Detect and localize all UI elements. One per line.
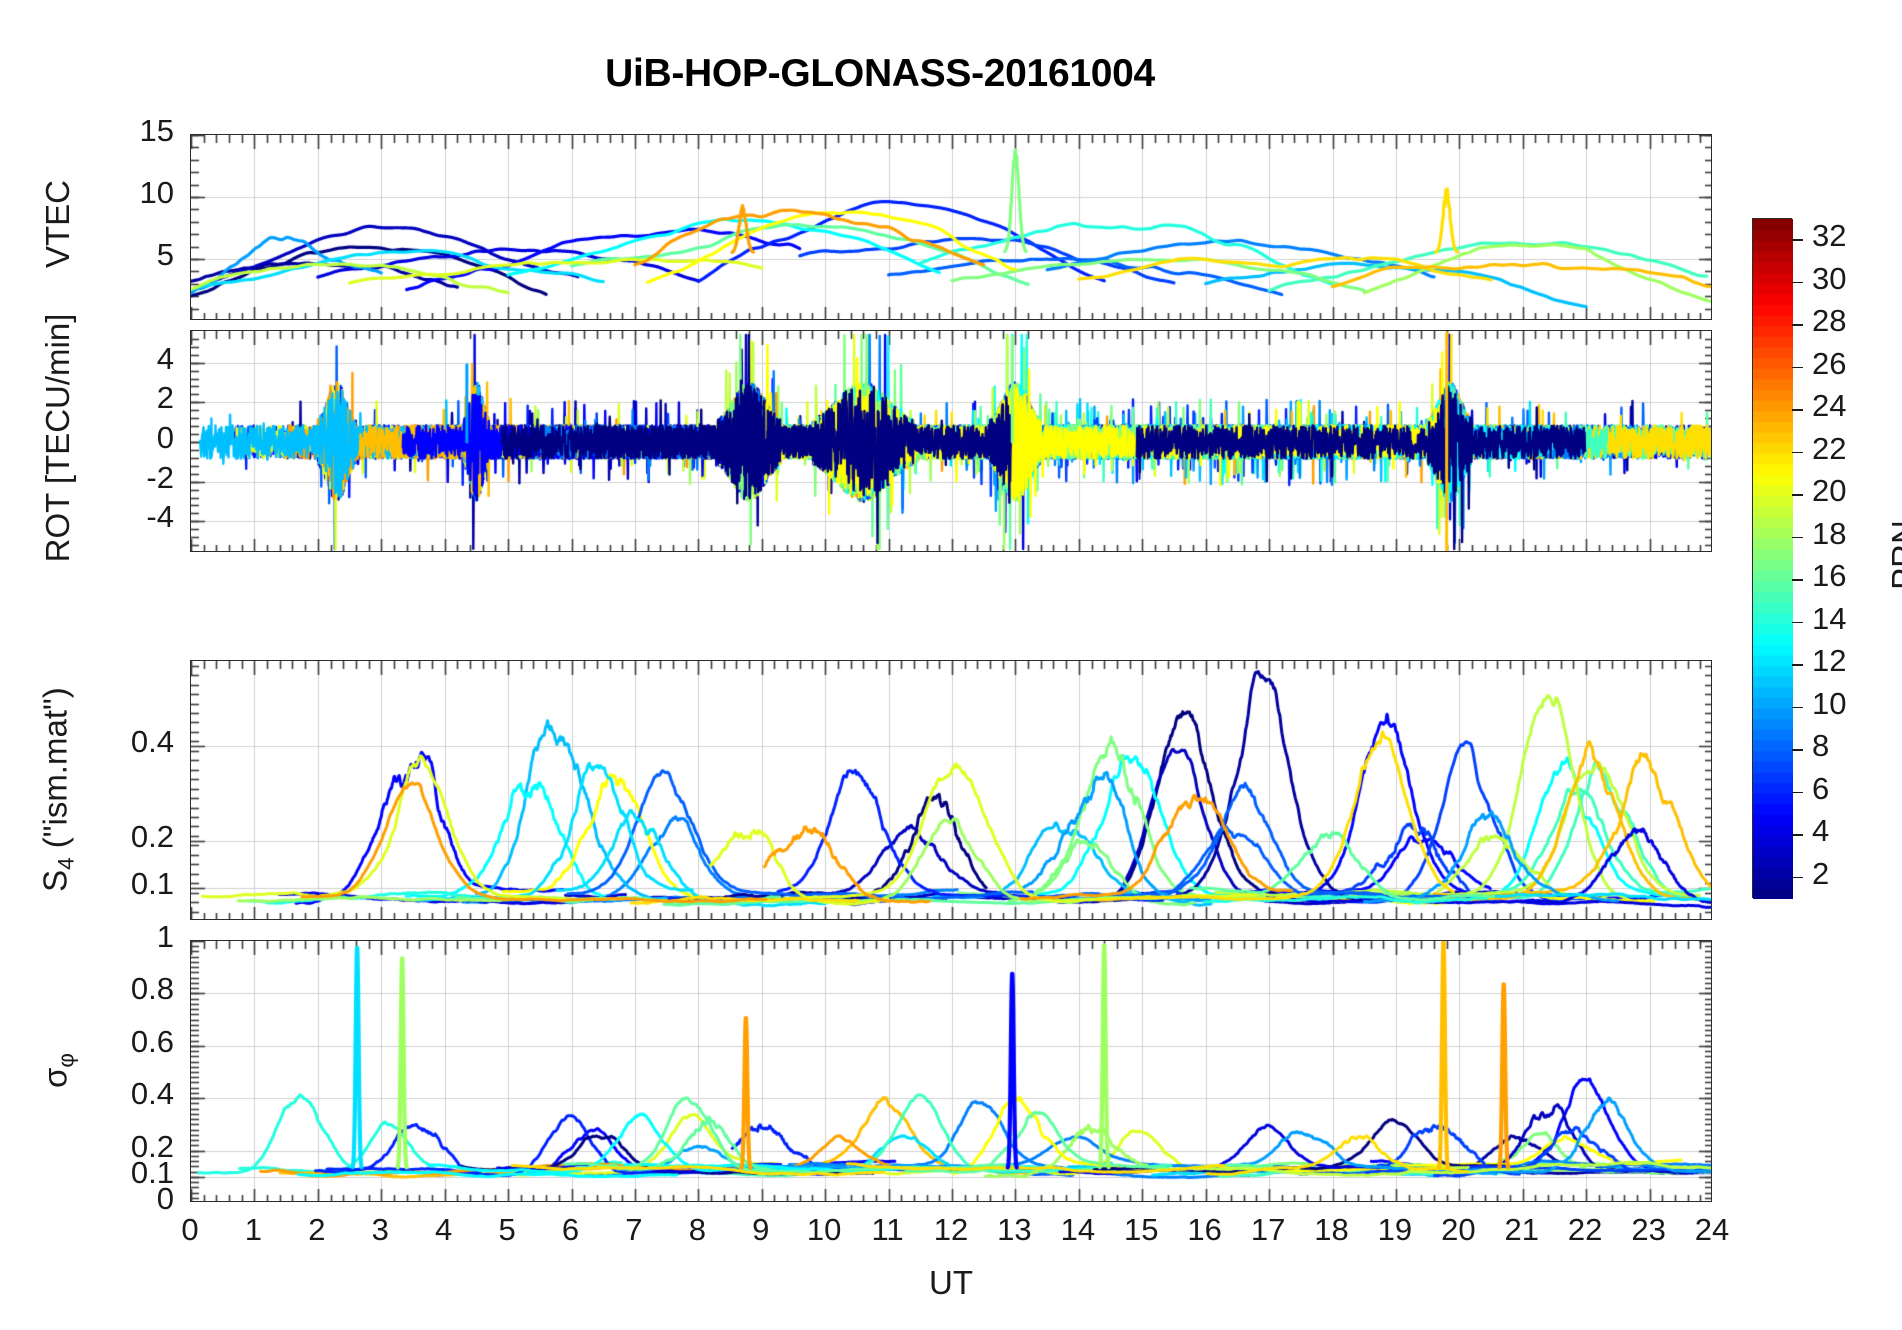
colorbar-tick-label: 4 [1812,813,1829,849]
colorbar-tick-mark [1792,239,1803,241]
y-tick-label: 0.2 [112,1129,174,1165]
y-ticks-vtec [122,134,178,320]
colorbar-tick-label: 28 [1812,303,1846,339]
y-tick-label: 1 [112,919,174,955]
panel-s4-canvas [191,661,1712,920]
y-tick-label: 0.8 [112,971,174,1007]
y-tick-label: 5 [112,237,174,273]
colorbar-tick-mark [1792,749,1803,751]
prn-colorbar[interactable] [1752,218,1792,898]
colorbar-tick-label: 24 [1812,388,1846,424]
colorbar-tick-label: 10 [1812,686,1846,722]
colorbar-tick-mark [1792,452,1803,454]
y-tick-label: -4 [112,499,174,535]
y-tick-label: 2 [112,380,174,416]
colorbar-tick-mark [1792,579,1803,581]
colorbar-tick-mark [1792,409,1803,411]
y-tick-label: 0.4 [112,724,174,760]
colorbar-tick-label: 20 [1812,473,1846,509]
figure-title: UiB-HOP-GLONASS-20161004 [0,52,1760,96]
panel-rot [190,330,1712,552]
colorbar-tick-mark [1792,494,1803,496]
panel-vtec-canvas [191,135,1712,320]
y-tick-label: 15 [112,113,174,149]
colorbar-tick-label: 16 [1812,558,1846,594]
colorbar-tick-mark [1792,792,1803,794]
colorbar-tick-mark [1792,664,1803,666]
colorbar-tick-mark [1792,834,1803,836]
y-tick-label: 0.2 [112,819,174,855]
colorbar-gradient [1753,219,1793,899]
panel-sigmaphi [190,940,1712,1202]
x-tick-label: 24 [1672,1212,1752,1248]
panel-rot-canvas [191,331,1712,552]
colorbar-tick-mark [1792,622,1803,624]
y-tick-label: 4 [112,341,174,377]
colorbar-tick-label: 6 [1812,771,1829,807]
panel-vtec [190,134,1712,320]
x-axis-label: UT [190,1264,1712,1302]
y-tick-label: 10 [112,175,174,211]
colorbar-tick-label: 18 [1812,516,1846,552]
y-tick-label: 0.4 [112,1076,174,1112]
y-tick-label: 0.6 [112,1024,174,1060]
y-tick-label: 0.1 [112,866,174,902]
y-axis-label-rot: ROT [TECU/min] [39,257,77,619]
panel-s4 [190,660,1712,920]
colorbar-tick-label: 14 [1812,601,1846,637]
colorbar-tick-label: 22 [1812,431,1846,467]
colorbar-tick-label: 12 [1812,643,1846,679]
colorbar-label: PRN [1885,455,1902,655]
colorbar-tick-mark [1792,877,1803,879]
y-axis-label-sigmaphi: σφ [36,870,79,1272]
colorbar-tick-mark [1792,324,1803,326]
colorbar-tick-label: 2 [1812,856,1829,892]
colorbar-tick-label: 30 [1812,261,1846,297]
colorbar-tick-mark [1792,367,1803,369]
colorbar-tick-mark [1792,282,1803,284]
colorbar-tick-mark [1792,707,1803,709]
colorbar-tick-label: 8 [1812,728,1829,764]
colorbar-tick-label: 32 [1812,218,1846,254]
figure-root: UiB-HOP-GLONASS-20161004 51015VTEC-4-202… [0,0,1902,1330]
y-tick-label: 0 [112,420,174,456]
y-tick-label: -2 [112,460,174,496]
colorbar-tick-label: 26 [1812,346,1846,382]
colorbar-tick-mark [1792,537,1803,539]
panel-sigmaphi-canvas [191,941,1712,1202]
